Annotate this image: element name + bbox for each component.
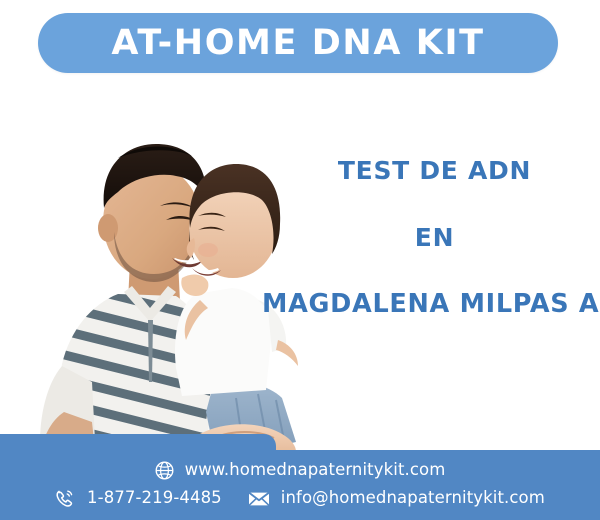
footer-row-website: www.homednapaternitykit.com bbox=[155, 461, 446, 480]
headline-block: TEST DE ADN EN MAGDALENA MILPAS ALTAS bbox=[262, 158, 600, 318]
header-badge-label: AT-HOME DNA KIT bbox=[111, 26, 484, 61]
footer-email-label: info@homednapaternitykit.com bbox=[281, 490, 545, 507]
footer-email[interactable]: info@homednapaternitykit.com bbox=[248, 490, 545, 507]
footer-row-phone-email: 1-877-219-4485 info@homednapaternitykit.… bbox=[55, 488, 545, 509]
footer-website-label: www.homednapaternitykit.com bbox=[185, 462, 446, 479]
footer-phone-label: 1-877-219-4485 bbox=[87, 490, 222, 507]
headline-line-1: TEST DE ADN bbox=[262, 158, 600, 183]
phone-icon bbox=[55, 488, 76, 509]
footer-contact-info: www.homednapaternitykit.com 1-877-219-44… bbox=[0, 450, 600, 520]
headline-line-3: MAGDALENA MILPAS ALTAS bbox=[262, 292, 600, 318]
headline-line-2: EN bbox=[262, 225, 600, 250]
promo-banner: AT-HOME DNA KIT bbox=[0, 0, 600, 520]
header-badge: AT-HOME DNA KIT bbox=[38, 13, 558, 73]
footer-website[interactable]: www.homednapaternitykit.com bbox=[155, 461, 446, 480]
envelope-icon bbox=[248, 491, 270, 507]
footer-phone[interactable]: 1-877-219-4485 bbox=[55, 488, 222, 509]
globe-icon bbox=[155, 461, 174, 480]
